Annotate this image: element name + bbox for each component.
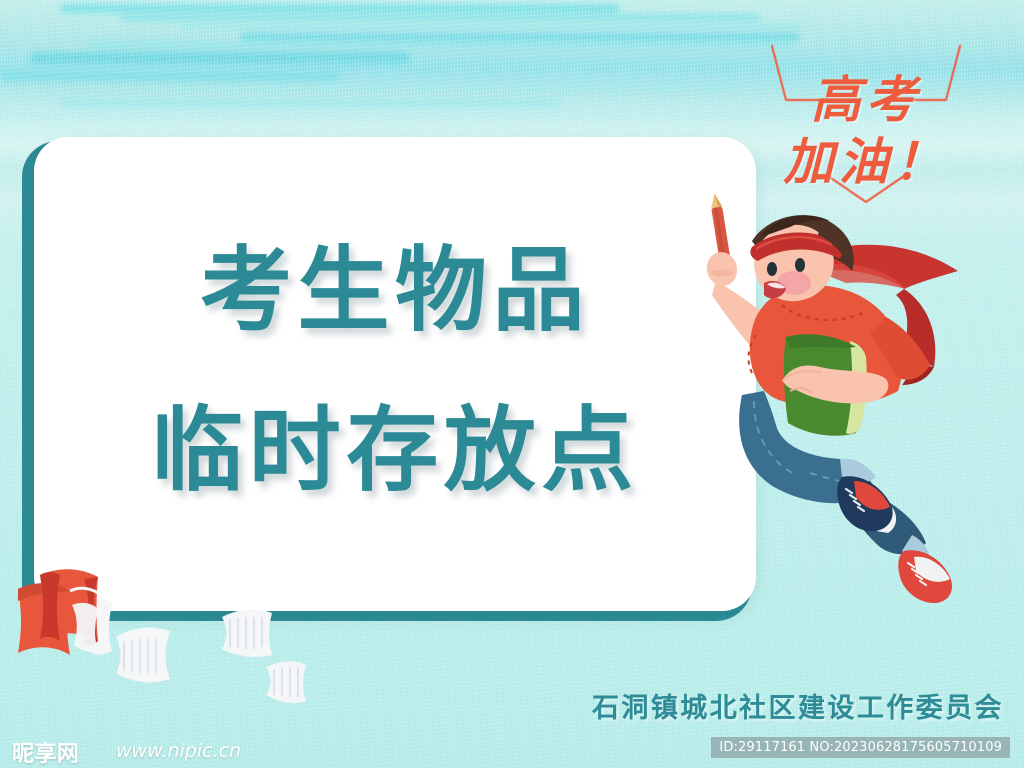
flying-page-icon-2 [116, 628, 170, 683]
flying-page-icon-3 [222, 610, 272, 657]
watermark-bar: 昵享网 www.nipic.cn ID:29117161 NO:20230628… [0, 728, 1024, 768]
image-id-label: ID:29117161 NO:20230628175605710109 [711, 737, 1010, 758]
headline-line-1: 考生物品 [34, 245, 756, 337]
poster-canvas: 高考 加油！ 考生物品 临时存放点 [0, 0, 1024, 768]
nipic-logo: 昵享网 [12, 736, 79, 768]
headline-line-2: 临时存放点 [34, 405, 756, 497]
organization-name: 石洞镇城北社区建设工作委员会 [0, 686, 1004, 725]
sneaker-icon-front [837, 476, 896, 533]
student-illustration [690, 185, 990, 605]
open-red-book-icon [18, 569, 98, 655]
slogan-group: 高考 加油！ [756, 28, 976, 208]
sneaker-icon-back [898, 550, 952, 603]
nipic-url: www.nipic.cn [116, 740, 241, 762]
slogan-line-2: 加油！ [756, 122, 976, 194]
main-white-card: 考生物品 临时存放点 [34, 137, 756, 611]
